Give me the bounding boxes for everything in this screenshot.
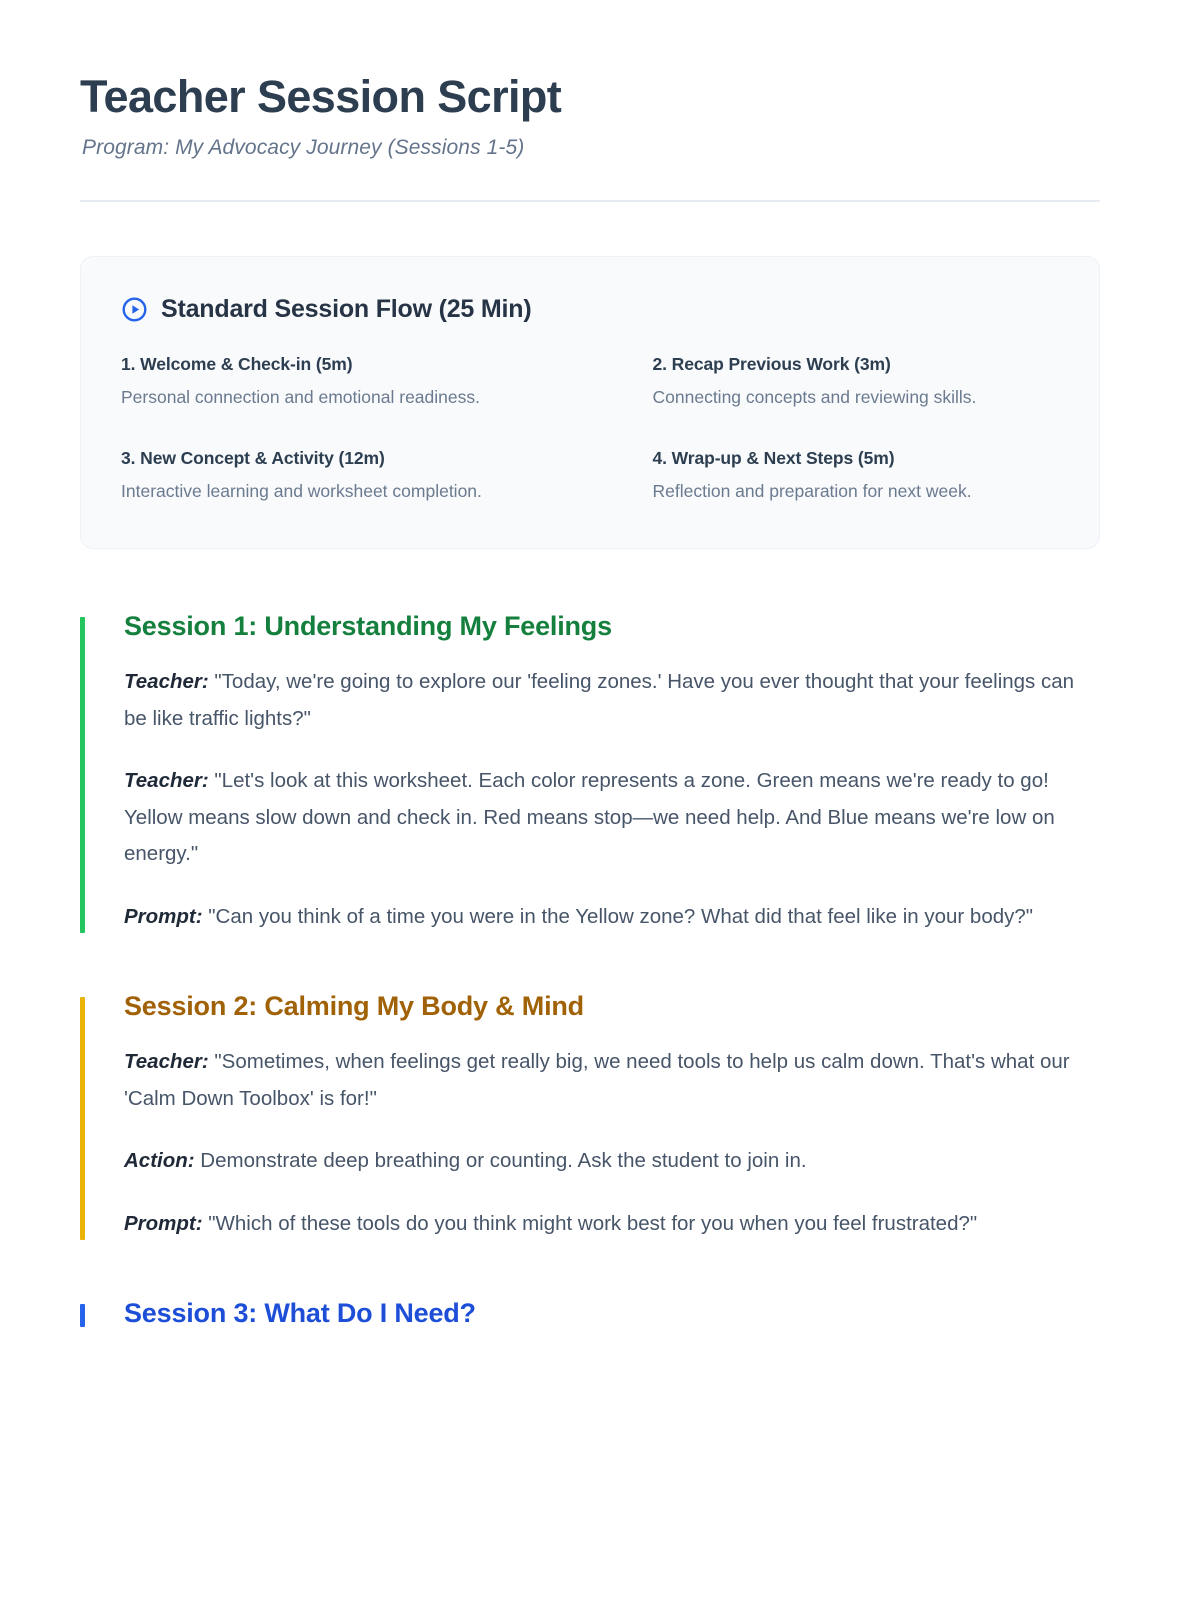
line-text: "Sometimes, when feelings get really big…	[124, 1050, 1070, 1109]
speaker-label: Teacher:	[124, 769, 209, 792]
play-circle-icon	[121, 296, 148, 323]
script-line: Teacher: "Sometimes, when feelings get r…	[124, 1044, 1099, 1117]
flow-step-desc: Interactive learning and worksheet compl…	[121, 475, 501, 508]
page-title: Teacher Session Script	[80, 72, 1100, 122]
flow-step-3: 3. New Concept & Activity (12m) Interact…	[121, 448, 528, 508]
flow-step-desc: Personal connection and emotional readin…	[121, 381, 501, 414]
flow-step-1: 1. Welcome & Check-in (5m) Personal conn…	[121, 354, 528, 414]
speaker-label: Teacher:	[124, 670, 209, 693]
session-title: Session 3: What Do I Need?	[124, 1298, 1100, 1329]
script-line: Prompt: "Which of these tools do you thi…	[124, 1206, 1099, 1242]
speaker-label: Prompt:	[124, 1212, 203, 1235]
session-flow-grid: 1. Welcome & Check-in (5m) Personal conn…	[121, 354, 1059, 508]
flow-step-title: 3. New Concept & Activity (12m)	[121, 448, 528, 469]
line-text: "Today, we're going to explore our 'feel…	[124, 670, 1074, 729]
program-subtitle: Program: My Advocacy Journey (Sessions 1…	[82, 136, 1100, 160]
session-block-2: Session 2: Calming My Body & Mind Teache…	[80, 991, 1100, 1242]
script-line: Action: Demonstrate deep breathing or co…	[124, 1143, 1099, 1179]
session-title: Session 2: Calming My Body & Mind	[124, 991, 1100, 1022]
document-page: Teacher Session Script Program: My Advoc…	[0, 0, 1200, 1351]
flow-step-title: 4. Wrap-up & Next Steps (5m)	[653, 448, 1060, 469]
script-line: Teacher: "Today, we're going to explore …	[124, 664, 1099, 737]
script-line: Teacher: "Let's look at this worksheet. …	[124, 763, 1099, 872]
document-header: Teacher Session Script Program: My Advoc…	[80, 72, 1100, 202]
flow-step-4: 4. Wrap-up & Next Steps (5m) Reflection …	[653, 448, 1060, 508]
flow-step-title: 2. Recap Previous Work (3m)	[653, 354, 1060, 375]
speaker-label: Teacher:	[124, 1050, 209, 1073]
session-block-1: Session 1: Understanding My Feelings Tea…	[80, 611, 1100, 935]
session-flow-title: Standard Session Flow (25 Min)	[161, 295, 531, 324]
session-accent-bar	[80, 1304, 85, 1327]
session-block-3: Session 3: What Do I Need?	[80, 1298, 1100, 1329]
speaker-label: Prompt:	[124, 905, 203, 928]
speaker-label: Action:	[124, 1149, 195, 1172]
script-line: Prompt: "Can you think of a time you wer…	[124, 899, 1099, 935]
line-text: "Can you think of a time you were in the…	[203, 905, 1033, 928]
header-divider	[80, 200, 1100, 202]
line-text: "Which of these tools do you think might…	[203, 1212, 978, 1235]
session-title: Session 1: Understanding My Feelings	[124, 611, 1100, 642]
flow-step-title: 1. Welcome & Check-in (5m)	[121, 354, 528, 375]
session-flow-header: Standard Session Flow (25 Min)	[121, 295, 1059, 324]
line-text: "Let's look at this worksheet. Each colo…	[124, 769, 1055, 865]
line-text: Demonstrate deep breathing or counting. …	[195, 1149, 807, 1172]
session-flow-card: Standard Session Flow (25 Min) 1. Welcom…	[80, 256, 1100, 549]
flow-step-desc: Connecting concepts and reviewing skills…	[653, 381, 1033, 414]
session-accent-bar	[80, 997, 85, 1240]
flow-step-2: 2. Recap Previous Work (3m) Connecting c…	[653, 354, 1060, 414]
session-list: Session 1: Understanding My Feelings Tea…	[80, 611, 1100, 1329]
session-accent-bar	[80, 617, 85, 933]
flow-step-desc: Reflection and preparation for next week…	[653, 475, 1033, 508]
